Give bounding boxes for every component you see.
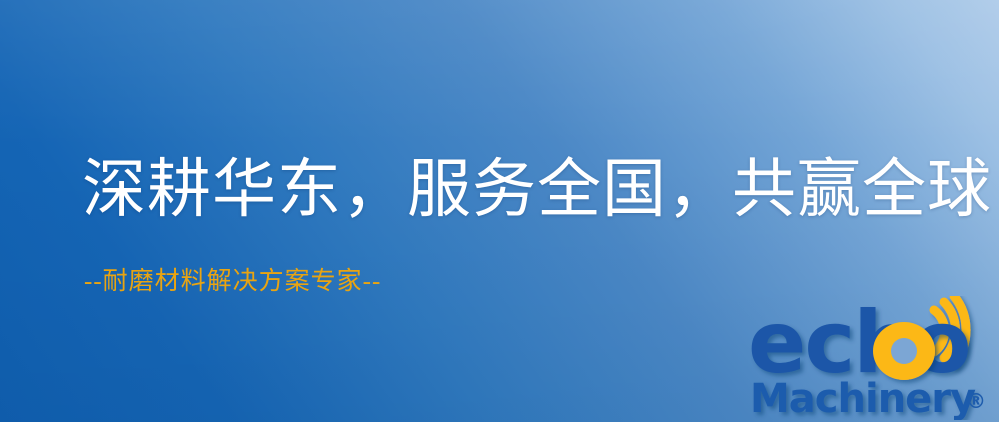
- logo-machinery-text: Machinery: [750, 376, 976, 420]
- echo-machinery-logo[interactable]: echo Machinery ®: [748, 296, 996, 420]
- banner-subtitle: --耐磨材料解决方案专家--: [84, 266, 381, 298]
- hero-banner: 深耕华东，服务全国，共赢全球 --耐磨材料解决方案专家-- echo: [0, 0, 999, 422]
- banner-headline: 深耕华东，服务全国，共赢全球: [82, 152, 992, 228]
- logo-o-gold: [873, 322, 935, 380]
- logo-registered-mark: ®: [966, 389, 986, 413]
